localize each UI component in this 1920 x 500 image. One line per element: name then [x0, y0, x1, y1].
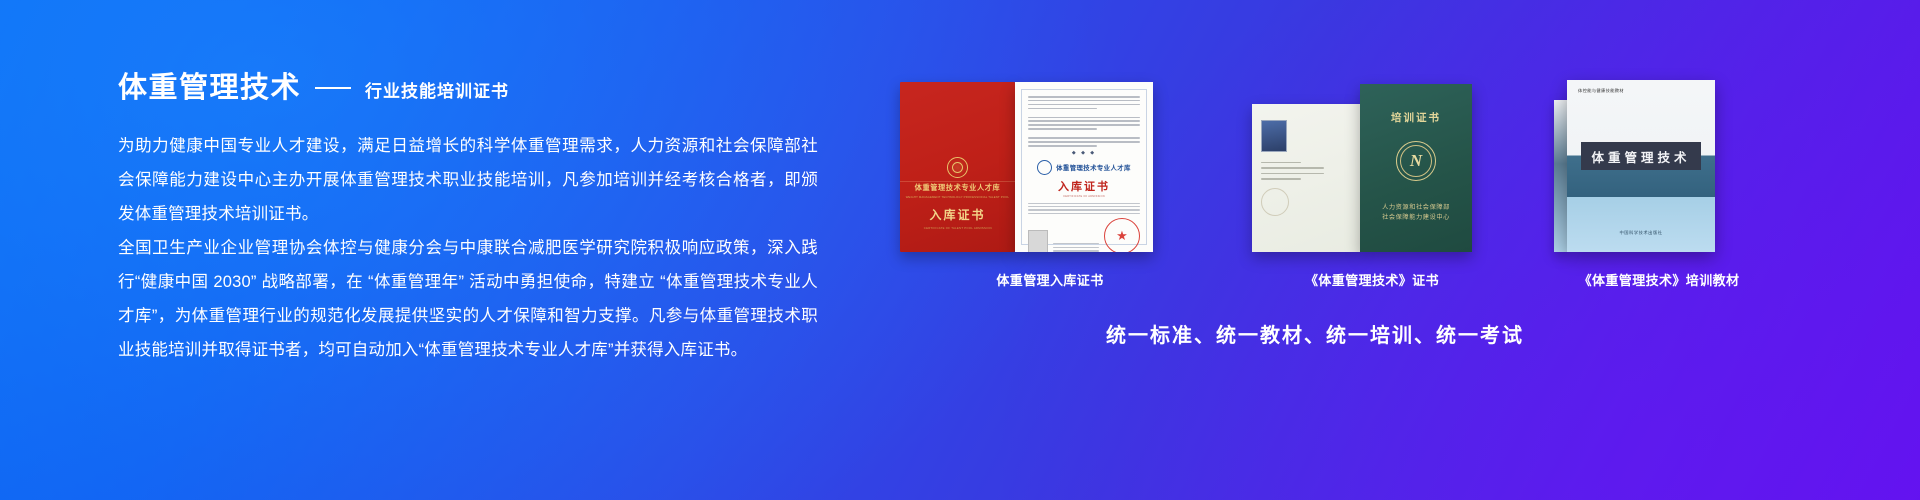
green-certificate-cover: 培训证书 N 人力资源和社会保障部 社会保障能力建设中心 [1360, 84, 1472, 252]
page-title-en: CERTIFICATE OF ADMISSION [1034, 194, 1135, 198]
red-cover-org-en: WEIGHT MANAGEMENT TECHNOLOGY PROFESSIONA… [906, 195, 1009, 199]
blue-seal-icon [1037, 160, 1052, 175]
red-cover-org: 体重管理技术专业人才库 [915, 183, 1001, 193]
gold-seal-icon [947, 157, 968, 178]
textbook-publisher: 中国科学技术出版社 [1573, 230, 1709, 236]
textbook-title: 体重管理技术 [1591, 147, 1690, 166]
left-text-column: 体重管理技术 行业技能培训证书 为助力健康中国专业人才建设，满足日益增长的科学体… [118, 74, 818, 367]
right-certificate-column: 体重管理技术专业人才库 WEIGHT MANAGEMENT TECHNOLOGY… [900, 74, 1860, 348]
certificate-inner-page: ◆ ◆ ◆ 体重管理技术专业人才库 入库证书 CERTIFICATE OF AD… [1015, 82, 1153, 252]
id-photo [1261, 120, 1287, 152]
certificate-item-textbook: 体控能与健康技能教材 体重管理技术 中国科学技术出版社 [1554, 80, 1764, 252]
photo-placeholder [1028, 230, 1048, 252]
certificate-row: 体重管理技术专业人才库 WEIGHT MANAGEMENT TECHNOLOGY… [900, 74, 1860, 252]
promo-banner: 体重管理技术 行业技能培训证书 为助力健康中国专业人才建设，满足日益增长的科学体… [0, 0, 1920, 500]
page-footer: ★ [1028, 218, 1140, 252]
page-title-text: 入库证书 [1028, 178, 1140, 194]
green-cover-org-line2: 社会保障能力建设中心 [1382, 213, 1450, 223]
emblem-letter: N [1410, 151, 1422, 171]
caption-textbook: 《体重管理技术》培训教材 [1554, 270, 1764, 289]
certificate-item-talent-pool: 体重管理技术专业人才库 WEIGHT MANAGEMENT TECHNOLOGY… [900, 82, 1200, 252]
watermark-seal-icon [1261, 188, 1289, 216]
cover-divider-line [900, 181, 1015, 182]
description-paragraph-2: 全国卫生产业企业管理协会体控与健康分会与中康联合减肥医学研究院积极响应政策，深入… [118, 231, 818, 367]
page-text-block-top [1028, 96, 1140, 147]
title-divider-dash [315, 87, 351, 89]
red-stamp-icon: ★ [1104, 218, 1140, 252]
certificate-item-training: 培训证书 N 人力资源和社会保障部 社会保障能力建设中心 [1252, 84, 1492, 252]
page-title: 体重管理技术 行业技能培训证书 [118, 74, 818, 103]
textbook-back-cover [1554, 100, 1568, 252]
red-certificate-cover: 体重管理技术专业人才库 WEIGHT MANAGEMENT TECHNOLOGY… [900, 82, 1015, 252]
footer-detail-lines [1053, 243, 1099, 252]
red-cover-title: 入库证书 [929, 206, 985, 223]
page-text-block-bottom [1028, 203, 1140, 215]
red-cover-title-en: CERTIFICATE OF TALENT POOL ADMISSION [923, 226, 991, 230]
page-badge: 体重管理技术专业人才库 [1028, 160, 1140, 175]
training-page-lines [1261, 162, 1351, 180]
description-paragraph-1: 为助力健康中国专业人才建设，满足日益增长的科学体重管理需求，人力资源和社会保障部… [118, 129, 818, 231]
page-title-main: 体重管理技术 [118, 74, 301, 103]
caption-row: 体重管理入库证书 《体重管理技术》证书 《体重管理技术》培训教材 [900, 270, 1860, 289]
caption-talent-pool: 体重管理入库证书 [900, 270, 1200, 289]
green-cover-org-line1: 人力资源和社会保障部 [1382, 203, 1450, 213]
tagline: 统一标准、统一教材、统一培训、统一考试 [900, 319, 1730, 348]
page-badge-org: 体重管理技术专业人才库 [1056, 163, 1131, 172]
textbook-title-band: 体重管理技术 [1581, 142, 1701, 170]
national-emblem-icon: N [1396, 141, 1436, 181]
textbook-top-label: 体控能与健康技能教材 [1567, 80, 1703, 94]
green-cover-title: 培训证书 [1391, 110, 1441, 125]
training-inner-page [1252, 104, 1360, 252]
textbook-front-cover: 体控能与健康技能教材 体重管理技术 中国科学技术出版社 [1567, 80, 1715, 252]
green-cover-org: 人力资源和社会保障部 社会保障能力建设中心 [1382, 203, 1450, 223]
caption-training-certificate: 《体重管理技术》证书 [1252, 270, 1492, 289]
description-body: 为助力健康中国专业人才建设，满足日益增长的科学体重管理需求，人力资源和社会保障部… [118, 129, 818, 367]
page-ornament-dots: ◆ ◆ ◆ [1028, 150, 1140, 156]
inner-page-border: ◆ ◆ ◆ 体重管理技术专业人才库 入库证书 CERTIFICATE OF AD… [1021, 89, 1147, 245]
page-title-subtitle: 行业技能培训证书 [365, 77, 509, 102]
